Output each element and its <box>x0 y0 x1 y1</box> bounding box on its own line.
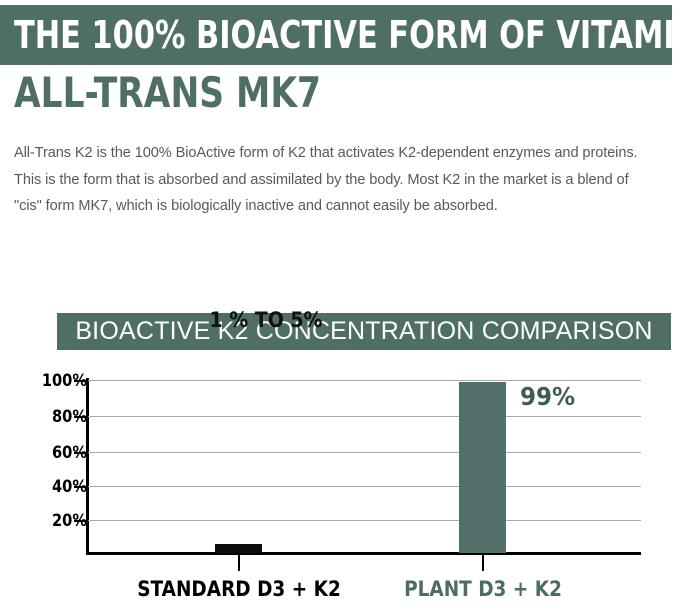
bar-standard-d3-k2[interactable] <box>215 544 262 553</box>
page-subtitle: ALL-TRANS MK7 <box>14 72 321 114</box>
header-banner: THE 100% BIOACTIVE FORM OF VITAMIN K2 <box>0 5 672 65</box>
gridline-60 <box>88 452 641 453</box>
gridline-40 <box>88 486 641 487</box>
gridline-80 <box>88 416 641 417</box>
x-axis-label-standard: STANDARD D3 + K2 <box>137 579 341 600</box>
bar-value-label-standard: 1 % TO 5% <box>210 310 323 331</box>
x-tick-mark-plant <box>482 554 484 571</box>
plot-area: 1 % TO 5% 99% <box>88 380 641 553</box>
header-banner-title: THE 100% BIOACTIVE FORM OF VITAMIN K2 <box>14 16 679 54</box>
chart-title: BIOACTIVE K2 CONCENTRATION COMPARISON <box>75 319 652 344</box>
x-tick-mark-standard <box>238 554 240 571</box>
body-paragraph: All-Trans K2 is the 100% BioActive form … <box>14 140 658 220</box>
chart-title-banner: BIOACTIVE K2 CONCENTRATION COMPARISON <box>57 313 671 350</box>
gridline-100 <box>88 380 641 381</box>
bar-chart: 100% 80% 60% 40% 20% 1 % TO 5% 99% STAND… <box>0 360 679 613</box>
x-axis-label-plant: PLANT D3 + K2 <box>404 579 562 600</box>
bar-value-label-plant: 99% <box>520 384 575 409</box>
gridline-20 <box>88 520 641 521</box>
bar-plant-d3-k2[interactable] <box>459 382 506 553</box>
